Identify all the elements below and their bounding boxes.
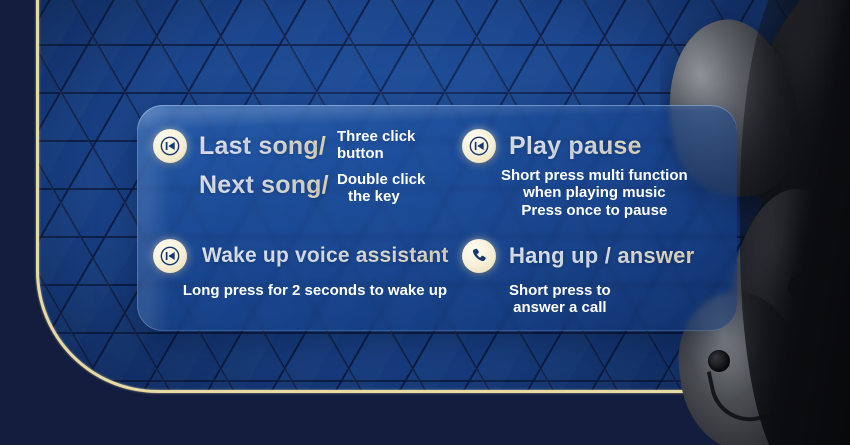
note-next-song: Double click the key: [337, 171, 425, 206]
entry-hang-up-answer[interactable]: Hang up / answer: [462, 239, 694, 273]
note-wake-voice-assistant-line1: Long press for 2 seconds to wake up: [155, 282, 475, 299]
note-next-song-line2: the key: [337, 188, 425, 205]
note-hang-up-answer-line1: Short press to: [509, 282, 611, 299]
entry-play-pause-heading: Play pause: [509, 132, 642, 161]
note-play-pause-line3: Press once to pause: [501, 202, 688, 219]
note-wake-voice-assistant: Long press for 2 seconds to wake up: [155, 282, 475, 299]
phone-icon[interactable]: [462, 239, 496, 273]
note-last-song-line2: button: [337, 145, 415, 162]
entry-last-song-heading: Last song/: [199, 132, 326, 161]
note-play-pause: Short press multi function when playing …: [501, 167, 688, 219]
previous-track-icon[interactable]: [462, 129, 496, 163]
entry-next-song-heading: Next song/: [199, 171, 329, 200]
poster-stage: Last song/ Next song/ Three click button…: [0, 0, 850, 445]
instruction-card: Last song/ Next song/ Three click button…: [137, 105, 737, 331]
entry-wake-voice-assistant-heading: Wake up voice assistant: [202, 244, 449, 268]
note-play-pause-line1: Short press multi function: [501, 167, 688, 184]
entry-play-pause[interactable]: Play pause: [462, 129, 642, 163]
entry-hang-up-answer-heading: Hang up / answer: [509, 243, 694, 269]
previous-track-icon[interactable]: [153, 129, 187, 163]
note-next-song-line1: Double click: [337, 171, 425, 188]
note-play-pause-line2: when playing music: [501, 184, 688, 201]
note-last-song-line1: Three click: [337, 128, 415, 145]
previous-track-icon[interactable]: [153, 239, 187, 273]
entry-next-song[interactable]: Next song/: [153, 171, 329, 200]
product-shadow-edge: [740, 0, 850, 445]
note-last-song: Three click button: [337, 128, 415, 163]
entry-wake-voice-assistant[interactable]: Wake up voice assistant: [153, 239, 449, 273]
note-hang-up-answer: Short press to answer a call: [509, 282, 611, 317]
entry-last-song[interactable]: Last song/: [153, 129, 326, 163]
note-hang-up-answer-line2: answer a call: [509, 299, 611, 316]
cable-joint-a: [708, 350, 730, 372]
